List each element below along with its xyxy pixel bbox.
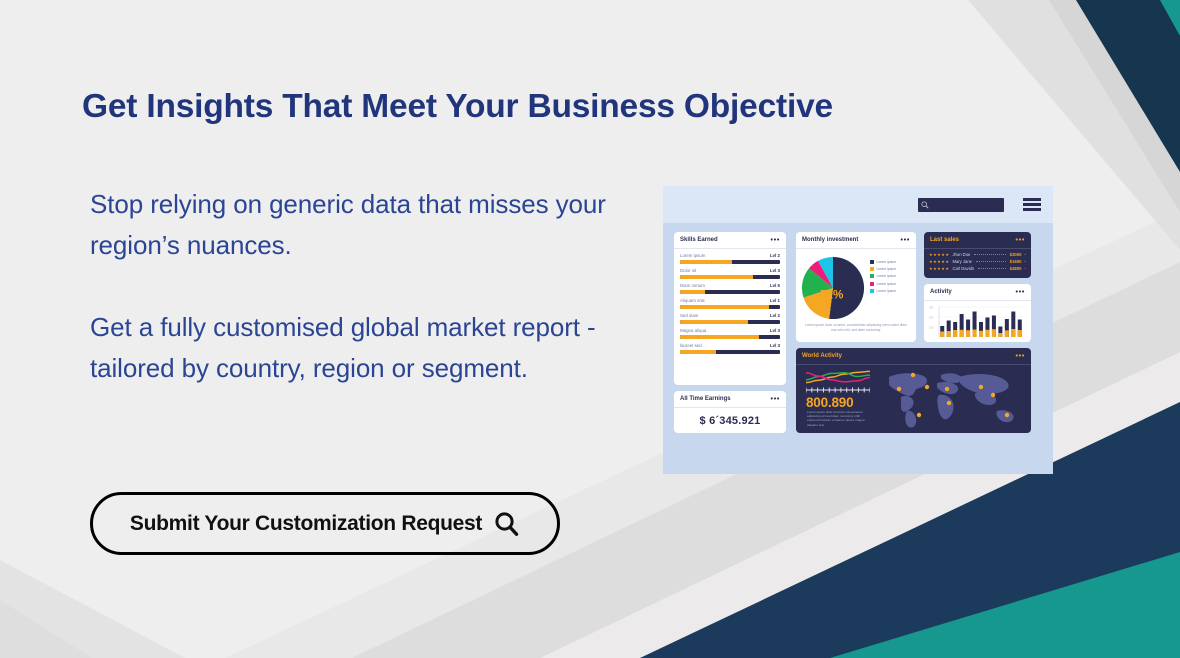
sales-customer-name: Jhon Doe <box>952 252 970 257</box>
activity-chart-area: 300200100 <box>924 301 1031 339</box>
star-rating: ★★★★★ <box>929 252 949 257</box>
skill-row: Dolor sitLvl 3 <box>680 268 780 273</box>
card-title: Activity <box>930 289 952 295</box>
skill-progress-fill <box>680 305 769 309</box>
submit-customization-request-button[interactable]: Submit Your Customization Request <box>90 492 560 555</box>
card-header: Activity ••• <box>924 284 1031 301</box>
skill-progress-fill <box>680 320 748 324</box>
card-menu-icon[interactable]: ••• <box>901 238 910 243</box>
skill-name: Dolor sit <box>680 268 696 273</box>
paragraph-1: Stop relying on generic data that misses… <box>90 184 650 266</box>
activity-bar-chart: 300200100 <box>928 305 1025 339</box>
legend-swatch <box>870 267 874 271</box>
skill-name: Sed siam <box>680 313 698 318</box>
sales-amount: $3000 <box>1010 252 1022 257</box>
legend-label: Lorem ipsum <box>877 289 897 293</box>
skill-item: Sed siamLvl 2 <box>680 313 780 324</box>
map-location-marker <box>897 387 901 391</box>
leader-dots <box>978 268 1006 269</box>
sales-customer-name: Mary Jane <box>952 259 972 264</box>
skill-row: Sed siamLvl 2 <box>680 313 780 318</box>
sales-amount: $4800 <box>1010 266 1022 271</box>
map-location-marker <box>979 385 983 389</box>
skill-item: Dolor sitLvl 3 <box>680 268 780 279</box>
cta-label: Submit Your Customization Request <box>130 512 482 536</box>
legend-swatch <box>870 289 874 293</box>
skill-progress-track <box>680 290 780 294</box>
map-location-marker <box>947 401 951 405</box>
legend-item: Lorem ipsum <box>870 267 896 271</box>
skill-row: laoreet sedLvl 3 <box>680 343 780 348</box>
legend-item: Lorem ipsum <box>870 274 896 278</box>
bar-base <box>1005 330 1009 337</box>
sales-list: ★★★★★Jhon Doe$3000•★★★★★Mary Jane$1600•★… <box>924 249 1031 271</box>
skill-progress-track <box>680 335 780 339</box>
legend-swatch <box>870 260 874 264</box>
card-title: Skills Earned <box>680 237 718 243</box>
bar-base <box>940 332 944 338</box>
map-location-marker <box>991 393 995 397</box>
leader-dots <box>974 254 1005 255</box>
card-header: Last sales ••• <box>924 232 1031 249</box>
skill-row: Lorem ipsumLvl 2 <box>680 253 780 258</box>
card-title: All Time Earnings <box>680 396 731 402</box>
skill-progress-fill <box>680 275 753 279</box>
map-landmass <box>941 373 962 383</box>
map-location-marker <box>925 385 929 389</box>
sales-row: ★★★★★Jhon Doe$3000• <box>929 252 1026 257</box>
y-axis-tick-label: 200 <box>929 316 934 320</box>
body-copy: Stop relying on generic data that misses… <box>90 184 650 389</box>
bar-base <box>992 329 996 337</box>
leader-dots <box>976 261 1006 262</box>
skill-item: Lorem ipsumLvl 2 <box>680 253 780 264</box>
bar-base <box>1011 329 1015 337</box>
sales-trend-indicator: • <box>1024 266 1026 271</box>
hamburger-bar <box>1023 208 1041 211</box>
pie-caption: Lorem ipsum dolor sit amet, consectetuer… <box>796 321 916 332</box>
skill-item: Magna aliquaLvl 3 <box>680 328 780 339</box>
card-menu-icon[interactable]: ••• <box>1016 354 1025 359</box>
sales-amount: $1600 <box>1010 259 1022 264</box>
hamburger-menu-icon[interactable] <box>1023 198 1041 211</box>
card-header: Monthly investment ••• <box>796 232 916 249</box>
star-rating: ★★★★★ <box>929 259 949 264</box>
map-landmass <box>937 395 953 420</box>
legend-swatch <box>870 274 874 278</box>
skill-level: Lvl 3 <box>770 328 780 333</box>
map-landmass <box>996 410 1013 422</box>
skill-item: laoreet sedLvl 3 <box>680 343 780 354</box>
page-title: Get Insights That Meet Your Business Obj… <box>82 88 833 126</box>
card-all-time-earnings: All Time Earnings ••• $ 6´345.921 <box>674 391 786 433</box>
skill-row: Diam nonumLvl 5 <box>680 283 780 288</box>
skill-item: Diam nonumLvl 5 <box>680 283 780 294</box>
card-world-activity: World Activity ••• 800.890 Lorem ipsum d… <box>796 348 1031 433</box>
skill-progress-track <box>680 275 780 279</box>
map-location-marker <box>945 387 949 391</box>
map-location-marker <box>1005 413 1009 417</box>
legend-label: Lorem ipsum <box>877 282 897 286</box>
legend-label: Lorem ipsum <box>877 260 897 264</box>
dashboard-mockup: Skills Earned ••• Lorem ipsumLvl 2Dolor … <box>663 186 1053 474</box>
sales-trend-indicator: • <box>1024 252 1026 257</box>
map-landmass <box>889 373 927 396</box>
world-line-chart <box>806 368 870 394</box>
skill-level: Lvl 3 <box>770 268 780 273</box>
paragraph-2: Get a fully customised global market rep… <box>90 307 650 389</box>
pie-center-label: 52% <box>820 288 844 301</box>
bar-base <box>973 330 977 338</box>
skill-name: Magna aliqua <box>680 328 706 333</box>
skill-progress-track <box>680 350 780 354</box>
legend-item: Lorem ipsum <box>870 289 896 293</box>
card-menu-icon[interactable]: ••• <box>771 397 780 402</box>
skill-name: Diam nonum <box>680 283 705 288</box>
skill-level: Lvl 2 <box>770 313 780 318</box>
sales-row: ★★★★★Mary Jane$1600• <box>929 259 1026 264</box>
world-activity-caption: Lorem ipsum dolor sit amet consectetuer … <box>807 410 869 427</box>
world-map <box>871 367 1023 431</box>
map-landmass <box>959 374 1009 394</box>
skill-progress-track <box>680 260 780 264</box>
skill-progress-track <box>680 305 780 309</box>
skill-item: Aliquam eratLvl 1 <box>680 298 780 309</box>
skill-level: Lvl 5 <box>770 283 780 288</box>
card-header: Skills Earned ••• <box>674 232 786 249</box>
sales-row: ★★★★★Carl Davids$4800• <box>929 266 1026 271</box>
pie-chart-area: 52% Lorem ipsumLorem ipsumLorem ipsumLor… <box>796 249 916 321</box>
skill-row: Aliquam eratLvl 1 <box>680 298 780 303</box>
bar-base <box>998 333 1002 337</box>
sales-trend-indicator: • <box>1024 259 1026 264</box>
bar-base <box>979 331 983 337</box>
legend-item: Lorem ipsum <box>870 282 896 286</box>
dashboard-header <box>663 186 1053 223</box>
card-activity: Activity ••• 300200100 <box>924 284 1031 342</box>
legend-label: Lorem ipsum <box>877 274 897 278</box>
skill-progress-track <box>680 320 780 324</box>
skill-progress-fill <box>680 350 716 354</box>
card-menu-icon[interactable]: ••• <box>1016 290 1025 295</box>
world-activity-value: 800.890 <box>806 395 853 410</box>
skill-level: Lvl 1 <box>770 298 780 303</box>
y-axis-tick-label: 100 <box>929 326 934 330</box>
search-input[interactable] <box>918 198 1004 212</box>
legend-swatch <box>870 282 874 286</box>
map-location-marker <box>917 413 921 417</box>
card-monthly-investment: Monthly investment ••• 52% Lorem ipsumLo… <box>796 232 916 342</box>
legend-item: Lorem ipsum <box>870 260 896 264</box>
card-title: World Activity <box>802 353 842 359</box>
legend-label: Lorem ipsum <box>877 267 897 271</box>
bar-base <box>953 330 957 337</box>
search-icon <box>921 201 929 209</box>
map-landmass <box>905 411 916 428</box>
bar-base <box>966 330 970 337</box>
card-skills-earned: Skills Earned ••• Lorem ipsumLvl 2Dolor … <box>674 232 786 385</box>
skills-list: Lorem ipsumLvl 2Dolor sitLvl 3Diam nonum… <box>674 249 786 354</box>
sales-customer-name: Carl Davids <box>952 266 974 271</box>
bar-base <box>960 330 964 337</box>
world-activity-body: 800.890 Lorem ipsum dolor sit amet conse… <box>796 365 1031 433</box>
skill-level: Lvl 3 <box>770 343 780 348</box>
skill-name: laoreet sed <box>680 343 702 348</box>
skill-progress-fill <box>680 290 705 294</box>
hamburger-bar <box>1023 198 1041 201</box>
card-header: All Time Earnings ••• <box>674 391 786 408</box>
hamburger-bar <box>1023 203 1041 206</box>
skill-progress-fill <box>680 335 759 339</box>
skill-level: Lvl 2 <box>770 253 780 258</box>
skill-progress-fill <box>680 260 732 264</box>
skill-row: Magna aliquaLvl 3 <box>680 328 780 333</box>
earnings-value: $ 6´345.921 <box>674 408 786 433</box>
bar-base <box>1018 330 1022 337</box>
star-rating: ★★★★★ <box>929 266 949 271</box>
bar-base <box>947 331 951 337</box>
y-axis-tick-label: 300 <box>929 306 934 310</box>
bar-base <box>985 330 989 337</box>
card-title: Last sales <box>930 237 959 243</box>
pie-chart: 52% <box>800 255 866 321</box>
skill-name: Aliquam erat <box>680 298 705 303</box>
search-icon <box>492 510 520 538</box>
map-location-marker <box>911 373 915 377</box>
card-menu-icon[interactable]: ••• <box>771 238 780 243</box>
card-last-sales: Last sales ••• ★★★★★Jhon Doe$3000•★★★★★M… <box>924 232 1031 278</box>
card-title: Monthly investment <box>802 237 858 243</box>
card-menu-icon[interactable]: ••• <box>1016 238 1025 243</box>
dashboard-body: Skills Earned ••• Lorem ipsumLvl 2Dolor … <box>663 223 1053 474</box>
card-header: World Activity ••• <box>796 348 1031 365</box>
skill-name: Lorem ipsum <box>680 253 705 258</box>
map-landmass <box>901 396 914 412</box>
pie-legend: Lorem ipsumLorem ipsumLorem ipsumLorem i… <box>870 255 896 321</box>
